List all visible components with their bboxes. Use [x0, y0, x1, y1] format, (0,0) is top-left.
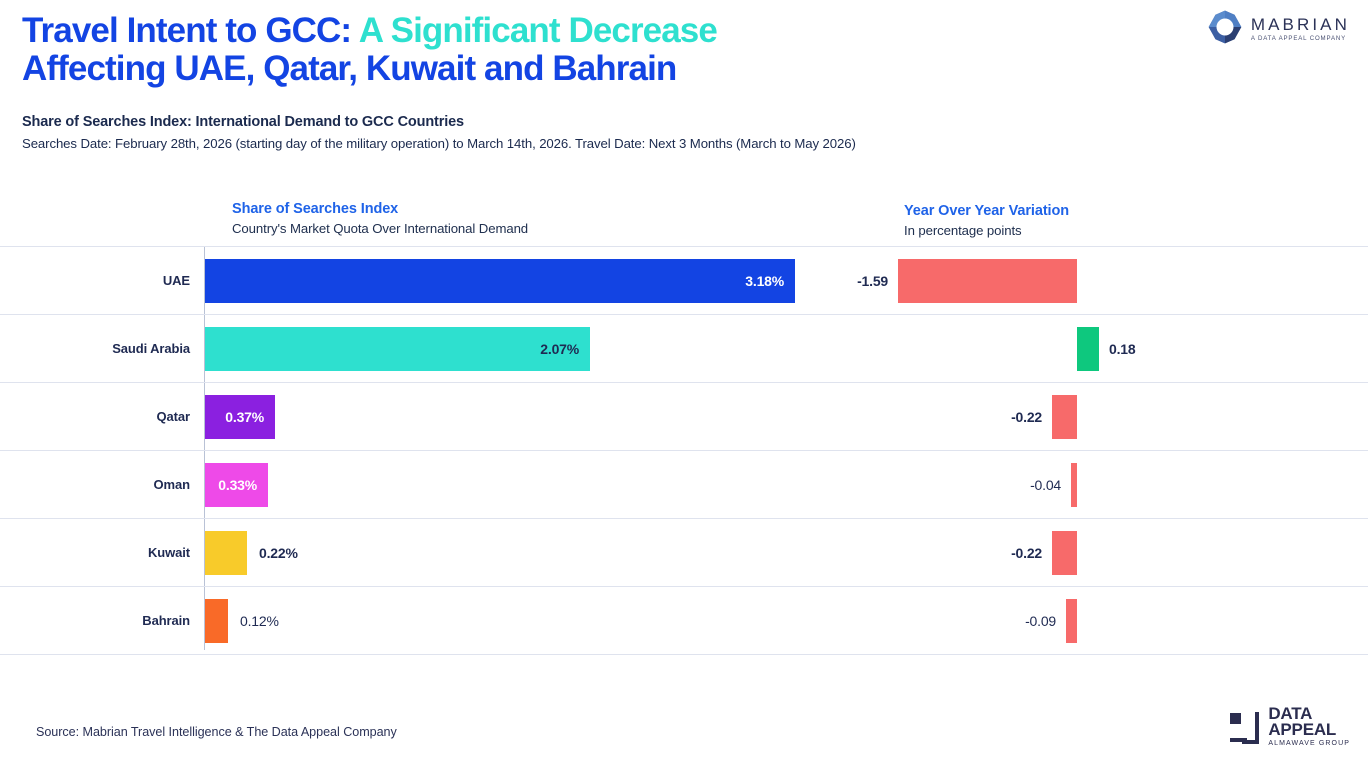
column-headers: Share of Searches Index Country's Market… — [0, 190, 1368, 238]
left-column-title: Share of Searches Index — [232, 200, 528, 218]
chart-row: Bahrain0.12%-0.09 — [0, 587, 1368, 655]
yoy-bar — [1066, 599, 1077, 643]
data-appeal-logo: DATA APPEAL ALMAWAVE GROUP — [1229, 706, 1350, 748]
data-appeal-tagline: ALMAWAVE GROUP — [1268, 741, 1350, 748]
mabrian-wordmark: MABRIAN A DATA APPEAL COMPANY — [1251, 16, 1350, 42]
mabrian-name: MABRIAN — [1251, 16, 1350, 33]
title-line-2: Affecting UAE, Qatar, Kuwait and Bahrain — [22, 50, 1172, 88]
column-header-yoy: Year Over Year Variation In percentage p… — [904, 202, 1069, 240]
yoy-value: -1.59 — [0, 259, 888, 303]
yoy-bar — [1071, 463, 1077, 507]
chart-row: Kuwait0.22%-0.22 — [0, 519, 1368, 587]
share-of-searches-bar: 2.07% — [205, 327, 590, 371]
yoy-bar — [1077, 327, 1099, 371]
date-note: Searches Date: February 28th, 2026 (star… — [22, 134, 1202, 153]
chart-row: UAE3.18%-1.59 — [0, 246, 1368, 315]
right-column-title: Year Over Year Variation — [904, 202, 1069, 220]
yoy-value: -0.04 — [0, 463, 1061, 507]
share-of-searches-value: 2.07% — [540, 341, 590, 357]
data-appeal-line-2: APPEAL — [1268, 722, 1350, 738]
chart-row: Oman0.33%-0.04 — [0, 451, 1368, 519]
mabrian-logo: MABRIAN A DATA APPEAL COMPANY — [1208, 10, 1350, 49]
title-part-teal: A Significant Decrease — [359, 11, 717, 50]
row-label-saudi-arabia: Saudi Arabia — [0, 315, 190, 382]
yoy-bar — [1052, 531, 1077, 575]
plot-area: UAE3.18%-1.59Saudi Arabia2.07%0.18Qatar0… — [0, 246, 1368, 650]
chart-rows: UAE3.18%-1.59Saudi Arabia2.07%0.18Qatar0… — [0, 246, 1368, 655]
yoy-bar — [1052, 395, 1077, 439]
title-part-blue: Travel Intent to GCC: — [22, 11, 359, 50]
subtitle: Share of Searches Index: International D… — [22, 113, 1202, 132]
title-line-1: Travel Intent to GCC: A Significant Decr… — [22, 12, 1172, 50]
yoy-value: -0.09 — [0, 599, 1056, 643]
chart-row: Qatar0.37%-0.22 — [0, 383, 1368, 451]
right-column-subtitle: In percentage points — [904, 222, 1069, 240]
page-title: Travel Intent to GCC: A Significant Decr… — [22, 12, 1172, 88]
yoy-value: -0.22 — [0, 531, 1042, 575]
mabrian-gem-icon — [1208, 10, 1242, 49]
yoy-bar — [898, 259, 1077, 303]
left-column-subtitle: Country's Market Quota Over Internationa… — [232, 220, 528, 238]
data-appeal-bracket-icon — [1229, 712, 1259, 742]
yoy-value: 0.18 — [1109, 327, 1135, 371]
mabrian-tagline: A DATA APPEAL COMPANY — [1251, 36, 1350, 42]
subtitle-block: Share of Searches Index: International D… — [22, 113, 1202, 153]
yoy-value: -0.22 — [0, 395, 1042, 439]
chart-row: Saudi Arabia2.07%0.18 — [0, 315, 1368, 383]
column-header-share-of-searches: Share of Searches Index Country's Market… — [232, 200, 528, 238]
source-note: Source: Mabrian Travel Intelligence & Th… — [36, 725, 397, 739]
chart: Share of Searches Index Country's Market… — [0, 190, 1368, 660]
data-appeal-wordmark: DATA APPEAL ALMAWAVE GROUP — [1268, 706, 1350, 748]
